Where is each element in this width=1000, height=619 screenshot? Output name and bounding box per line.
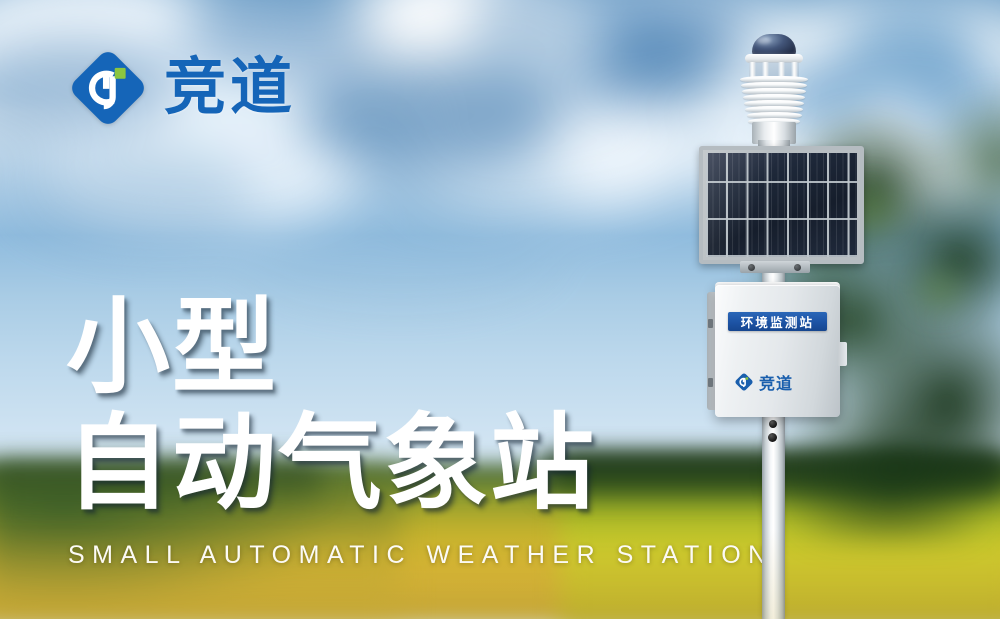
control-box (715, 285, 840, 417)
control-box-bottom-bolt-icon (769, 420, 777, 428)
weather-station-product-banner: 竞道 小型 自动气象站 SMALL AUTOMATIC WEATHER STAT… (0, 0, 1000, 619)
hero-subtitle: SMALL AUTOMATIC WEATHER STATION (68, 541, 774, 570)
brand-name: 竞道 (164, 57, 296, 119)
cloud-blue (20, 150, 260, 240)
control-box-brand: 竞道 (734, 370, 793, 394)
hero-title-line-1: 小型 (66, 296, 596, 400)
control-box-latch-icon (708, 319, 713, 328)
ultrasonic-weather-sensor-icon (730, 30, 816, 155)
hero-title-line-2: 自动气象站 (66, 412, 596, 516)
radiation-shield (740, 76, 808, 124)
control-box-brand-name: 竞道 (759, 370, 793, 394)
solar-panel (699, 146, 864, 264)
control-box-label-band: 环境监测站 (728, 312, 827, 331)
bracket-bolt-left-icon (748, 264, 755, 271)
mast-bolt-icon (768, 433, 777, 442)
bracket-bolt-right-icon (794, 264, 801, 271)
anemometer-dome (752, 34, 796, 56)
solar-cells (706, 153, 857, 257)
weather-station-device: 环境监测站 竞道 (690, 30, 890, 619)
brand-logo: 竞道 (66, 46, 296, 130)
control-box-latch-icon (708, 378, 713, 387)
jingdao-diamond-logo-icon (66, 46, 150, 130)
hero-title-block: 小型 自动气象站 (66, 296, 596, 516)
cloud-blue (250, 200, 550, 300)
jingdao-diamond-logo-icon (734, 372, 754, 392)
control-box-vent-icon (838, 342, 847, 366)
control-box-label-text: 环境监测站 (741, 312, 815, 331)
